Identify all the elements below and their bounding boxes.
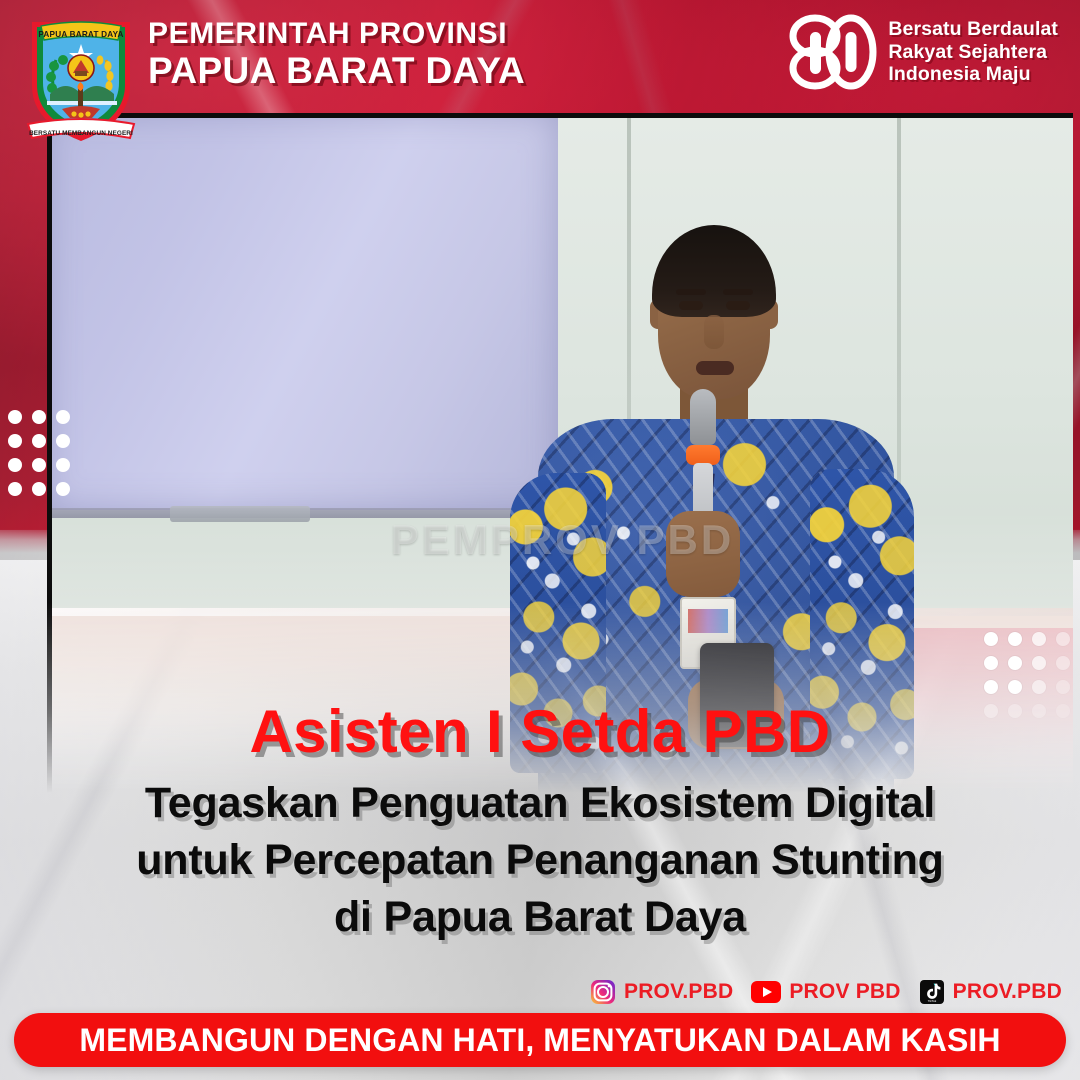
instagram-icon[interactable] <box>590 979 616 1005</box>
dot <box>56 434 70 448</box>
speaker-left-eyebrow <box>676 289 706 295</box>
headline-title: Asisten I Setda PBD <box>0 700 1080 763</box>
speaker-mouth <box>696 361 734 375</box>
dot <box>984 680 998 694</box>
svg-text:BERSATU MEMBANGUN NEGERI: BERSATU MEMBANGUN NEGERI <box>29 130 133 137</box>
speaker-hand-holding-microphone <box>666 511 740 597</box>
dot <box>1008 632 1022 646</box>
dot <box>1056 656 1070 670</box>
headline-subtitle-line1: Tegaskan Penguatan Ekosistem Digital <box>0 775 1080 832</box>
anniversary-slogan-line2: Rakyat Sejahtera <box>888 41 1058 64</box>
dot <box>56 458 70 472</box>
youtube-icon[interactable] <box>751 981 781 1003</box>
social-media-row: PROV.PBD PROV PBD TikTok PROV.PBD <box>590 979 1062 1005</box>
microphone-orange-ring <box>686 445 720 465</box>
projector-screen <box>52 118 558 510</box>
anniversary-slogan-line1: Bersatu Berdaulat <box>888 18 1058 41</box>
headline-subtitle-line3: di Papua Barat Daya <box>0 889 1080 946</box>
papua-barat-daya-coat-of-arms-icon: PAPUA BARAT DAYA BERSATU MEMBANGUN NEGER… <box>22 8 140 148</box>
decorative-dot-grid-left <box>8 410 70 496</box>
poster-canvas: PAPUA BARAT DAYA BERSATU MEMBANGUN NEGER… <box>0 0 1080 1080</box>
speaker-right-eyebrow <box>723 289 753 295</box>
headline-subtitle: Tegaskan Penguatan Ekosistem Digital unt… <box>0 775 1080 945</box>
tagline-banner: MEMBANGUN DENGAN HATI, MENYATUKAN DALAM … <box>14 1013 1066 1067</box>
dot <box>32 434 46 448</box>
dot <box>1032 680 1046 694</box>
dot <box>32 458 46 472</box>
tiktok-handle[interactable]: PROV.PBD <box>953 980 1062 1004</box>
dot <box>1056 632 1070 646</box>
dot <box>1056 680 1070 694</box>
social-item-youtube[interactable]: PROV PBD <box>751 980 900 1004</box>
speaker-left-eye <box>679 301 703 310</box>
dot <box>1008 656 1022 670</box>
svg-text:TikTok: TikTok <box>927 999 936 1003</box>
dot <box>56 410 70 424</box>
microphone-head <box>690 389 716 445</box>
dot <box>1032 632 1046 646</box>
dot <box>8 434 22 448</box>
instagram-handle[interactable]: PROV.PBD <box>624 980 733 1004</box>
government-title-line1: PEMERINTAH PROVINSI <box>148 19 525 50</box>
headline-subtitle-line2: untuk Percepatan Penanganan Stunting <box>0 832 1080 889</box>
dot <box>984 656 998 670</box>
tiktok-icon[interactable]: TikTok <box>919 979 945 1005</box>
dot <box>56 482 70 496</box>
svg-text:PAPUA BARAT DAYA: PAPUA BARAT DAYA <box>38 30 123 39</box>
youtube-handle[interactable]: PROV PBD <box>789 980 900 1004</box>
dot <box>8 458 22 472</box>
projector-screen-stand <box>170 506 310 522</box>
photo-frame: PEMPROV PBD <box>47 113 1073 793</box>
government-title: PEMERINTAH PROVINSI PAPUA BARAT DAYA <box>148 19 525 89</box>
speaker-right-eye <box>726 301 750 310</box>
tagline-text: MEMBANGUN DENGAN HATI, MENYATUKAN DALAM … <box>79 1022 1000 1059</box>
anniversary-slogan-line3: Indonesia Maju <box>888 63 1058 86</box>
speaker-hair <box>652 225 776 317</box>
dot <box>8 482 22 496</box>
anniversary-lockup: Bersatu Berdaulat Rakyat Sejahtera Indon… <box>785 12 1058 92</box>
header-bar: PAPUA BARAT DAYA BERSATU MEMBANGUN NEGER… <box>0 0 1080 118</box>
dot <box>8 410 22 424</box>
dot <box>32 482 46 496</box>
government-title-line2: PAPUA BARAT DAYA <box>148 52 525 90</box>
social-item-tiktok[interactable]: TikTok PROV.PBD <box>919 979 1062 1005</box>
dot <box>32 410 46 424</box>
speaker-nose <box>704 315 724 349</box>
headline-block: Asisten I Setda PBD Tegaskan Penguatan E… <box>0 700 1080 945</box>
anniversary-slogan: Bersatu Berdaulat Rakyat Sejahtera Indon… <box>888 18 1058 86</box>
dot <box>1008 680 1022 694</box>
dot <box>984 632 998 646</box>
dot <box>1032 656 1046 670</box>
anniversary-80-logo-icon <box>785 12 877 92</box>
social-item-instagram[interactable]: PROV.PBD <box>590 979 733 1005</box>
event-photo: PEMPROV PBD <box>52 118 1073 793</box>
